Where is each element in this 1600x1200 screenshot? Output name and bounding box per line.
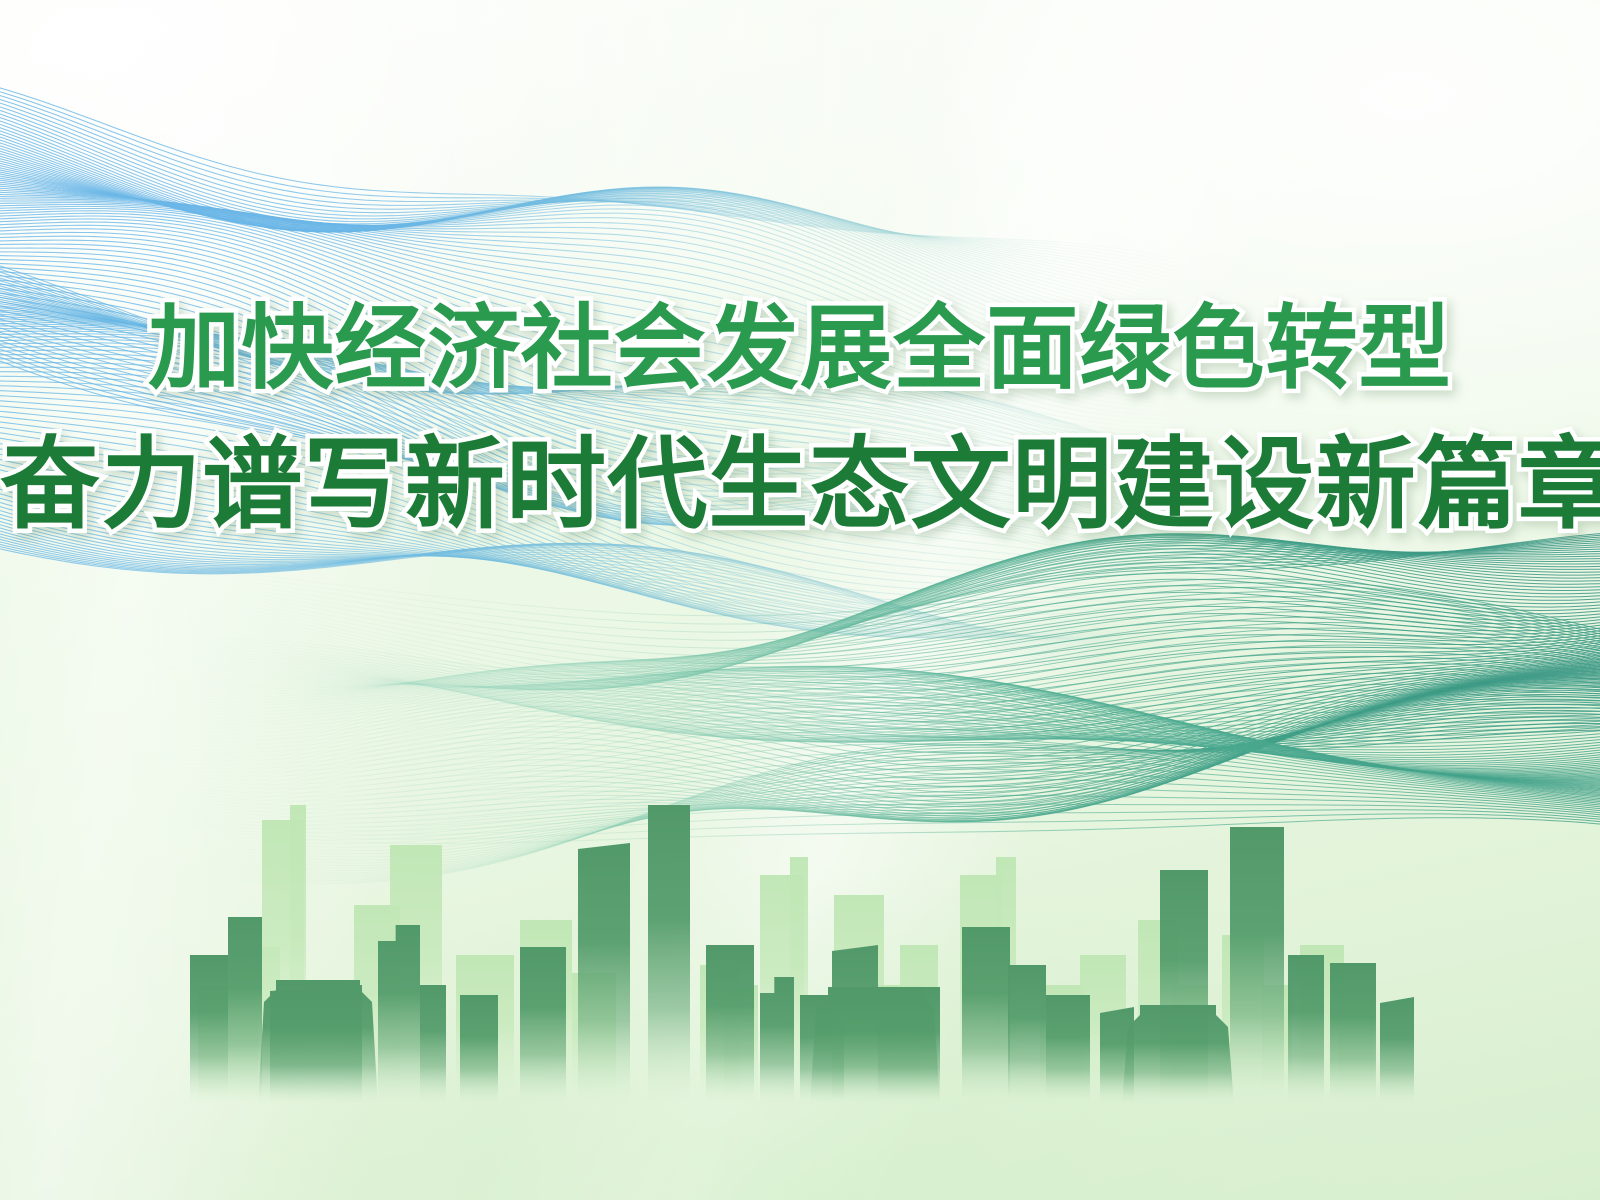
wave-strand [200, 573, 1600, 716]
wave-strand [140, 680, 1600, 772]
wave-strand [200, 553, 1600, 706]
wave-strand [140, 578, 1600, 666]
wave-strand [0, 73, 1180, 264]
wave-strand [200, 666, 1600, 818]
wave-strand [140, 752, 1600, 817]
skyline-building [1300, 945, 1344, 1105]
wave-strand [200, 631, 1600, 761]
skyline-podium-building [1122, 1005, 1234, 1105]
wave-strand [140, 744, 1600, 815]
wave-strand [200, 625, 1600, 754]
wave-strand [0, 98, 1180, 297]
skyline-building [1288, 955, 1324, 1105]
wave-strand [140, 818, 1600, 844]
wave-strand [140, 667, 1600, 778]
wave-strand [140, 673, 1600, 775]
skyline-building [198, 987, 258, 1105]
wave-strand [200, 689, 1600, 848]
skyline-building [378, 925, 420, 1105]
skyline-building [1160, 870, 1208, 1105]
wave-strand [140, 814, 1600, 839]
wave-strand [200, 705, 1600, 869]
wave-strand [140, 563, 1600, 656]
wave-strand [200, 546, 1600, 690]
wave-strand [200, 618, 1600, 746]
skyline-building [1172, 985, 1208, 1105]
wave-strand [0, 520, 1330, 724]
wave-strand [140, 683, 1600, 793]
wave-strand [0, 516, 1330, 721]
wave-strand [200, 671, 1600, 822]
wave-strand [140, 612, 1600, 726]
wave-strand [140, 722, 1600, 809]
wave-strand [140, 621, 1600, 735]
wave-strand [200, 720, 1600, 879]
wave-strand [200, 611, 1600, 737]
skyline-building [960, 875, 1002, 1105]
wave-strand [140, 682, 1600, 764]
wave-strand [200, 697, 1600, 860]
wave-strand [140, 697, 1600, 799]
wave-strand [140, 692, 1600, 797]
skyline-building [354, 905, 400, 1105]
wave-strand [200, 680, 1600, 825]
wave-strand [200, 549, 1600, 704]
wave-strand [140, 594, 1600, 698]
wave-strand [200, 664, 1600, 816]
wave-strand [200, 649, 1600, 787]
wave-strand [140, 668, 1600, 777]
wave-strand [140, 569, 1600, 660]
skyline-building [1040, 985, 1084, 1105]
wave-strand [0, 88, 1180, 284]
wave-strand [140, 715, 1600, 806]
wave-strand [200, 542, 1600, 698]
skyline-building [760, 977, 794, 1105]
wave-strand [140, 600, 1600, 709]
wave-strand [200, 692, 1600, 854]
wave-strand [140, 680, 1600, 762]
skyline-building [996, 857, 1016, 1105]
wave-strand [200, 543, 1600, 687]
wave-strand [140, 658, 1600, 741]
wave-strand [200, 681, 1600, 829]
wave-strand [200, 640, 1600, 772]
skyline-building [1100, 1007, 1134, 1105]
wave-strand [140, 760, 1600, 819]
headline-line-1: 加快经济社会发展全面绿色转型 [0, 296, 1600, 403]
wave-strand [200, 717, 1600, 877]
wave-strand [0, 85, 1180, 280]
wave-strand [200, 690, 1600, 850]
skyline-building [456, 955, 514, 1105]
wave-strand [140, 646, 1600, 742]
wave-strand [140, 667, 1600, 782]
wave-strand [140, 603, 1600, 714]
wave-strand [140, 676, 1600, 789]
wave-strand [200, 592, 1600, 724]
wave-strand [200, 605, 1600, 730]
wave-strand [200, 673, 1600, 822]
wave-strand [0, 513, 1330, 719]
wave-strand [140, 677, 1600, 760]
wave-strand [140, 664, 1600, 747]
wave-strand [200, 532, 1600, 675]
skyline-building [1008, 965, 1046, 1105]
wave-strand [140, 669, 1600, 752]
wave-strand [140, 671, 1600, 776]
wave-strand [140, 786, 1600, 825]
wave-strand [200, 620, 1600, 748]
wave-strand [140, 684, 1600, 766]
wave-strand [140, 675, 1600, 758]
skyline-building [520, 920, 572, 1105]
skyline-building [520, 947, 566, 1105]
wave-strand [200, 687, 1600, 844]
wave-strand [200, 622, 1600, 751]
wave-strand [200, 541, 1600, 685]
wave-strand [0, 116, 1180, 320]
wave-strand [200, 727, 1600, 882]
wave-strand [140, 666, 1600, 780]
wave-strand [200, 669, 1600, 821]
headline-block: 加快经济社会发展全面绿色转型 奋力谱写新时代生态文明建设新篇章 [0, 296, 1600, 543]
skyline-building [700, 965, 740, 1105]
skyline-building [900, 945, 938, 1105]
wave-strand [200, 682, 1600, 832]
wave-strand [200, 660, 1600, 811]
wave-strand [140, 627, 1600, 739]
wave-strand [140, 671, 1600, 785]
wave-strand [200, 699, 1600, 863]
wave-strand [140, 560, 1600, 654]
wave-right-decoration [0, 0, 1600, 1200]
skyline-building [832, 945, 878, 1105]
background-glow-bottom [0, 0, 1600, 1200]
headline-line-2: 奋力谱写新时代生态文明建设新篇章 [0, 427, 1600, 543]
wave-strand [140, 597, 1600, 703]
wave-strand [0, 91, 1180, 288]
wave-strand [200, 714, 1600, 875]
wave-strand [200, 707, 1600, 870]
wave-strand [140, 566, 1600, 658]
wave-strand [200, 730, 1600, 884]
wave-strand [140, 652, 1600, 740]
wave-strand [200, 694, 1600, 857]
wave-strand [200, 675, 1600, 822]
skyline-building [270, 985, 362, 1105]
skyline-building [420, 985, 446, 1105]
wave-strand [0, 119, 1180, 324]
wave-strand [200, 599, 1600, 727]
wave-strand [200, 647, 1600, 781]
wave-strand [140, 643, 1600, 743]
wave-strand [200, 636, 1600, 767]
wave-strand [200, 557, 1600, 709]
wave-strand [200, 644, 1600, 777]
wave-strand [200, 536, 1600, 690]
wave-strand [200, 545, 1600, 688]
skyline-podium-building [810, 987, 940, 1105]
wave-strand [140, 670, 1600, 777]
wave-strand [140, 606, 1600, 718]
wave-strand [140, 575, 1600, 664]
skyline-building [572, 973, 616, 1105]
wave-strand [200, 685, 1600, 840]
wave-strand [140, 672, 1600, 755]
skyline-building [390, 845, 442, 1105]
wave-strand [140, 686, 1600, 767]
wave-strand [140, 618, 1600, 733]
wave-strand [200, 629, 1600, 759]
wave-strand [200, 614, 1600, 741]
skyline-building [578, 843, 630, 1105]
wave-strand [200, 679, 1600, 823]
wave-strand [200, 616, 1600, 743]
wave-strand [200, 633, 1600, 764]
skyline-building [1330, 963, 1376, 1105]
wave-strand [140, 777, 1600, 823]
skyline-building [1230, 827, 1284, 1105]
skyline-building [262, 820, 304, 1105]
wave-strand [200, 536, 1600, 690]
wave-strand [200, 607, 1600, 732]
background-sheen-secondary [0, 0, 1600, 1200]
wave-strand [140, 667, 1600, 750]
wave-strand [200, 662, 1600, 814]
wave-strand [140, 687, 1600, 769]
wave-strand [200, 535, 1600, 689]
wave-strand [200, 534, 1600, 688]
wave-strand [140, 661, 1600, 744]
wave-strand [140, 668, 1600, 783]
wave-strand [200, 677, 1600, 821]
wave-strand [200, 655, 1600, 802]
wave-strand [140, 810, 1600, 835]
wave-strand [200, 545, 1600, 701]
wave-strand [140, 683, 1600, 772]
wave-strand [200, 562, 1600, 711]
wave-strand [140, 736, 1600, 812]
background-sheen-primary [0, 0, 1600, 1200]
wave-strand [0, 104, 1180, 304]
wave-strand [0, 95, 1180, 293]
wave-strand [200, 676, 1600, 822]
wave-left-decoration [0, 0, 1600, 1200]
wave-strand [0, 82, 1180, 276]
wave-strand [140, 675, 1600, 774]
wave-strand [200, 642, 1600, 774]
wave-strand [140, 769, 1600, 821]
wave-strand [200, 579, 1600, 719]
skyline-building [724, 985, 758, 1105]
skyline-building [1380, 997, 1414, 1105]
skyline-building [760, 875, 804, 1105]
skyline-building [1262, 985, 1292, 1105]
wave-strand [140, 640, 1600, 743]
wave-strand [200, 609, 1600, 735]
wave-strand [140, 680, 1600, 791]
wave-strand [140, 685, 1600, 770]
wave-strand [200, 537, 1600, 692]
wave-strand [140, 637, 1600, 743]
wave-strand [140, 609, 1600, 722]
skyline-building [790, 857, 808, 1105]
wave-strand [140, 669, 1600, 784]
wave-strand [200, 539, 1600, 690]
skyline-building [1138, 920, 1178, 1105]
skyline-front-layer [190, 805, 1414, 1105]
wave-strand [140, 655, 1600, 739]
wave-strand [200, 627, 1600, 756]
skyline-building [290, 805, 306, 1105]
skyline-building [706, 945, 754, 1105]
skyline-building [1222, 935, 1264, 1105]
wave-strand [200, 540, 1600, 696]
wave-strand [200, 567, 1600, 713]
wave-strand [140, 678, 1600, 774]
wave-strand [200, 537, 1600, 690]
skyline-building [1046, 995, 1090, 1105]
wave-strand [140, 674, 1600, 788]
wave-strand [200, 710, 1600, 872]
wave-strand [140, 804, 1600, 831]
wave-strand [140, 581, 1600, 670]
wave-strand [140, 667, 1600, 780]
skyline-building [800, 995, 844, 1105]
wave-strand [200, 724, 1600, 881]
wave-strand [200, 534, 1600, 678]
wave-strand [0, 113, 1180, 316]
wave-strand [140, 572, 1600, 662]
wave-strand [0, 76, 1180, 268]
skyline-building [1080, 955, 1126, 1105]
wave-strand [200, 684, 1600, 836]
wave-strand [200, 651, 1600, 793]
wave-strand [200, 534, 1600, 686]
wave-strand [200, 539, 1600, 684]
wave-strand [140, 703, 1600, 802]
wave-strand [140, 649, 1600, 741]
wave-strand [140, 588, 1600, 685]
skyline-building [230, 947, 280, 1105]
wave-strand [200, 530, 1600, 672]
wave-strand [200, 535, 1600, 688]
skyline-building [228, 917, 262, 1105]
wave-strand [140, 630, 1600, 740]
wave-strand [140, 633, 1600, 741]
wave-strand [200, 653, 1600, 798]
wave-strand [0, 70, 1180, 260]
city-skyline-silhouette [0, 0, 1600, 1200]
skyline-back-layer [198, 805, 1374, 1105]
poster-canvas: 加快经济社会发展全面绿色转型 奋力谱写新时代生态文明建设新篇章 [0, 0, 1600, 1200]
skyline-building [648, 805, 690, 1105]
wave-strand [200, 536, 1600, 681]
wave-strand [140, 591, 1600, 691]
wave-strand [200, 638, 1600, 770]
wave-strand [140, 585, 1600, 678]
wave-strand [200, 534, 1600, 687]
skyline-building [460, 995, 498, 1105]
skyline-building [1338, 987, 1374, 1105]
wave-strand [0, 101, 1180, 300]
skyline-building [876, 985, 922, 1105]
wave-strand [140, 688, 1600, 796]
skyline-building [878, 987, 940, 1105]
skyline-building [190, 955, 228, 1105]
skyline-building [962, 927, 1010, 1105]
wave-strand [200, 658, 1600, 807]
wave-strand [140, 624, 1600, 737]
wave-strand [200, 543, 1600, 690]
wave-strand [200, 702, 1600, 866]
wave-strand [140, 615, 1600, 730]
wave-strand [140, 729, 1600, 811]
wave-strand [140, 666, 1600, 781]
wave-strand [0, 107, 1180, 308]
wave-strand [200, 586, 1600, 722]
wave-strand [140, 795, 1600, 827]
wave-strand [0, 79, 1180, 272]
skyline-podium-building [258, 980, 378, 1105]
skyline-building [834, 895, 884, 1105]
wave-strand [140, 709, 1600, 804]
wave-strand [200, 541, 1600, 690]
wave-strand [0, 110, 1180, 312]
